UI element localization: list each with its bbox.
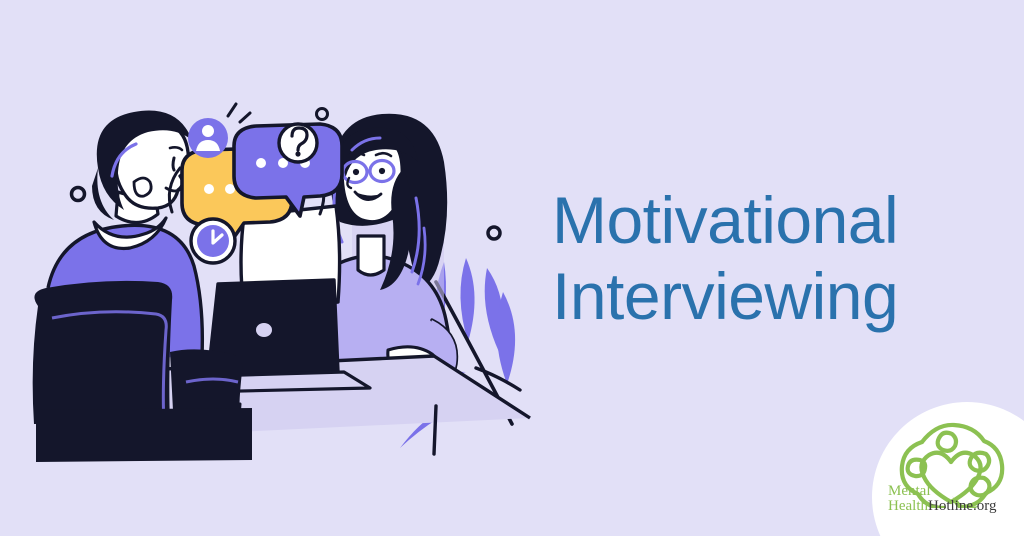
logo[interactable]: Mental HealthHotline.org <box>872 402 1024 536</box>
logo-text-line-1: Mental <box>888 484 1024 499</box>
clock-badge[interactable] <box>191 219 235 263</box>
logo-text-line-2: HealthHotline.org <box>888 499 1024 514</box>
logo-word-mental: Mental <box>888 483 931 499</box>
decorative-dot <box>488 227 500 239</box>
illustration <box>0 0 560 536</box>
logo-word-hotline-org: Hotline.org <box>928 498 996 514</box>
title-line-2: Interviewing <box>552 258 972 334</box>
title-line-1: Motivational <box>552 182 972 258</box>
decorative-dot <box>317 109 328 120</box>
page-title: Motivational Interviewing <box>552 182 972 334</box>
question-badge[interactable] <box>279 124 317 162</box>
avatar-badge[interactable] <box>188 118 228 158</box>
decorative-dot <box>72 188 85 201</box>
banner: Motivational Interviewing <box>0 0 1024 536</box>
logo-word-health: Health <box>888 498 928 514</box>
logo-wordmark: Mental HealthHotline.org <box>888 484 1024 514</box>
